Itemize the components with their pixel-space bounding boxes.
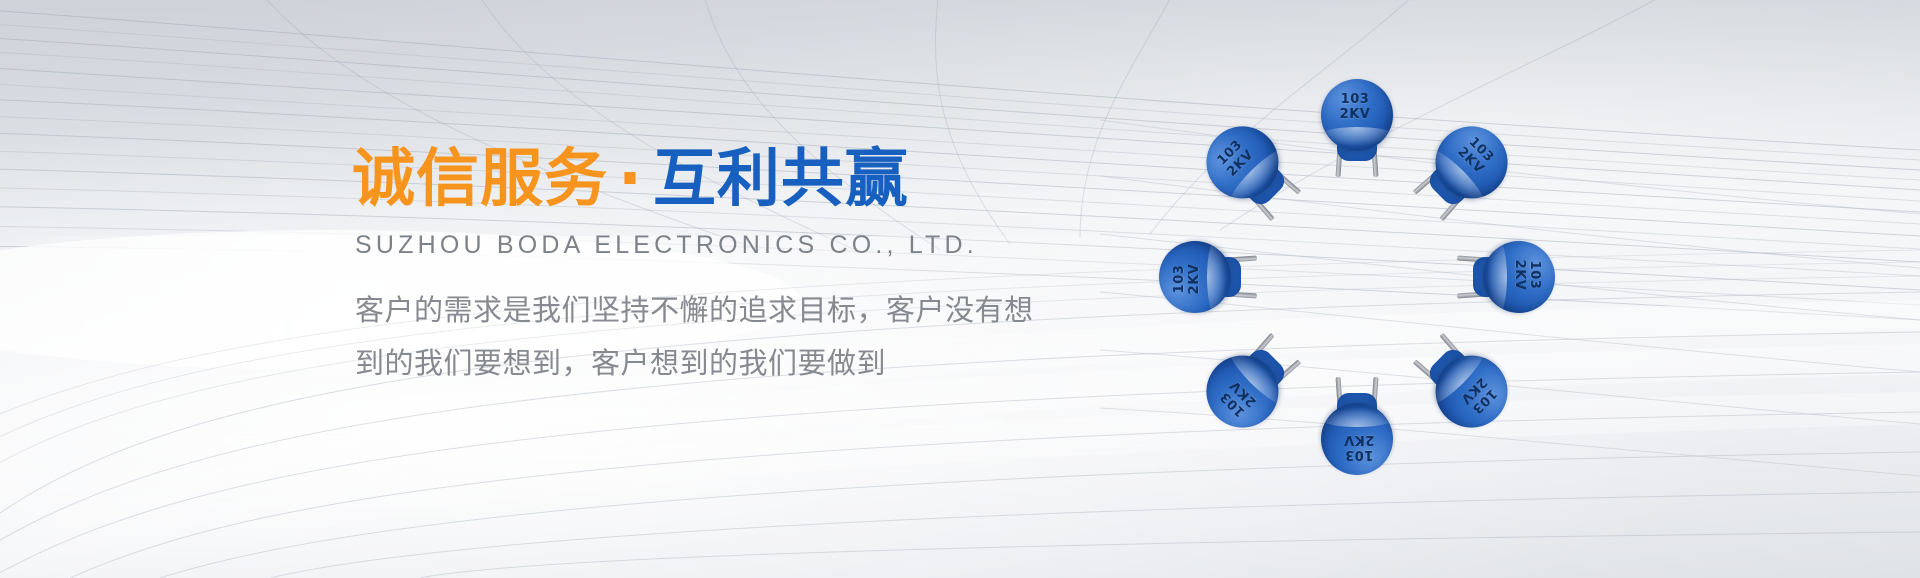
capacitor-value: 103 xyxy=(1323,447,1395,462)
capacitor-body: 1032KV xyxy=(1463,239,1555,315)
capacitor-value: 103 xyxy=(1172,243,1187,315)
capacitor-6: 1032KV xyxy=(1190,325,1309,444)
capacitor-marking: 1032KV xyxy=(1172,243,1202,315)
capacitor-3: 1032KV xyxy=(1463,239,1555,315)
capacitor-marking: 1032KV xyxy=(1319,92,1391,122)
capacitor-body: 1032KV xyxy=(1405,110,1524,229)
capacitor-marking: 1032KV xyxy=(1323,432,1395,462)
capacitor-8: 1032KV xyxy=(1190,110,1309,229)
capacitor-voltage: 2KV xyxy=(1512,239,1527,311)
capacitor-5: 1032KV xyxy=(1319,383,1395,475)
capacitor-voltage: 2KV xyxy=(1319,107,1391,122)
capacitor-marking: 1032KV xyxy=(1512,239,1542,311)
capacitor-body: 1032KV xyxy=(1319,383,1395,475)
capacitor-voltage: 2KV xyxy=(1323,432,1395,447)
hero-banner: 诚信服务·互利共赢 SUZHOU BODA ELECTRONICS CO., L… xyxy=(0,0,1920,578)
capacitor-1: 1032KV xyxy=(1319,79,1395,171)
capacitor-body: 1032KV xyxy=(1405,325,1524,444)
capacitor-body: 1032KV xyxy=(1319,79,1395,171)
headline-separator-dot: · xyxy=(608,142,653,215)
capacitor-value: 103 xyxy=(1527,239,1542,311)
company-name-english: SUZHOU BODA ELECTRONICS CO., LTD. xyxy=(355,231,1172,260)
banner-description: 客户的需求是我们坚持不懈的追求目标，客户没有想 到的我们要想到，客户想到的我们要… xyxy=(355,284,1172,390)
capacitor-body: 1032KV xyxy=(1190,110,1309,229)
capacitor-4: 1032KV xyxy=(1405,325,1524,444)
capacitor-7: 1032KV xyxy=(1159,239,1251,315)
capacitor-ring-image: 1032KV1032KV1032KV1032KV1032KV1032KV1032… xyxy=(1192,112,1522,442)
capacitor-2: 1032KV xyxy=(1405,110,1524,229)
headline-blue: 互利共赢 xyxy=(653,142,909,215)
headline-orange: 诚信服务 xyxy=(352,142,608,215)
capacitor-value: 103 xyxy=(1319,92,1391,107)
page-title: 诚信服务·互利共赢 xyxy=(352,146,1172,213)
capacitor-body: 1032KV xyxy=(1190,325,1309,444)
banner-copy: 诚信服务·互利共赢 SUZHOU BODA ELECTRONICS CO., L… xyxy=(352,146,1172,389)
description-line-2: 到的我们要想到，客户想到的我们要做到 xyxy=(355,337,1172,390)
capacitor-body: 1032KV xyxy=(1159,239,1251,315)
capacitor-voltage: 2KV xyxy=(1187,243,1202,315)
description-line-1: 客户的需求是我们坚持不懈的追求目标，客户没有想 xyxy=(355,284,1172,337)
